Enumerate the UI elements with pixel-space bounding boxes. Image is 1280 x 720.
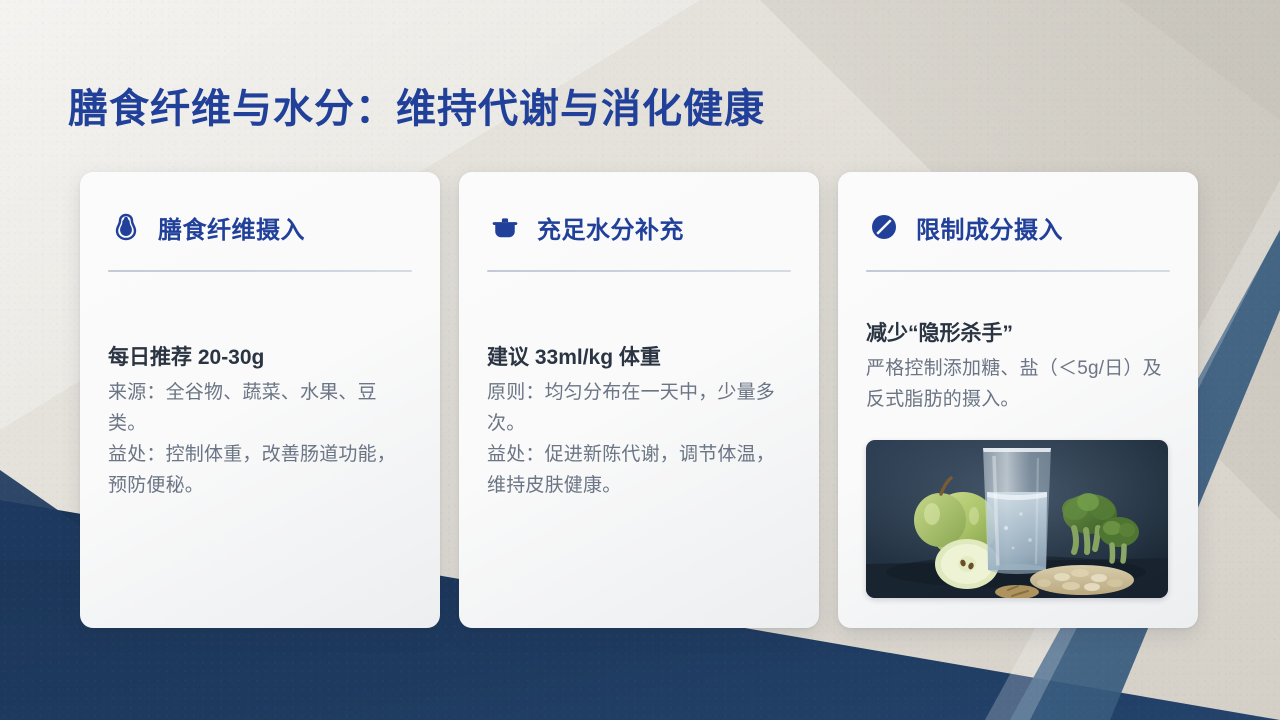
card-lead: 建议 33ml/kg 体重 [487,344,791,372]
card-title: 膳食纤维摄入 [158,210,305,245]
card-body: 建议 33ml/kg 体重 原则：均匀分布在一天中，少量多次。 益处：促进新陈代… [487,344,791,501]
water-pot-icon [487,209,523,245]
card-header: 充足水分补充 [487,206,791,248]
card-paragraph: 益处：促进新陈代谢，调节体温，维持皮肤健康。 [487,440,791,502]
cards-row: 膳食纤维摄入 每日推荐 20-30g 来源：全谷物、蔬菜、水果、豆类。 益处：控… [80,172,1200,628]
card-divider [866,270,1170,272]
card-header: 限制成分摄入 [866,206,1170,248]
card-divider [487,270,791,272]
card-dietary-fiber[interactable]: 膳食纤维摄入 每日推荐 20-30g 来源：全谷物、蔬菜、水果、豆类。 益处：控… [80,172,440,628]
healthy-food-photo [866,440,1168,598]
slide-title: 膳食纤维与水分：维持代谢与消化健康 [68,76,765,134]
card-title: 充足水分补充 [537,210,684,245]
card-lead: 每日推荐 20-30g [108,344,412,372]
card-hydration[interactable]: 充足水分补充 建议 33ml/kg 体重 原则：均匀分布在一天中，少量多次。 益… [459,172,819,628]
card-paragraph: 益处：控制体重，改善肠道功能，预防便秘。 [108,440,412,502]
prohibition-slash-icon [866,209,902,245]
card-title: 限制成分摄入 [916,210,1063,245]
card-lead: 减少“隐形杀手” [866,320,1170,348]
card-divider [108,270,412,272]
card-body: 每日推荐 20-30g 来源：全谷物、蔬菜、水果、豆类。 益处：控制体重，改善肠… [108,344,412,501]
water-glass [983,448,1051,574]
card-limit-intake[interactable]: 限制成分摄入 减少“隐形杀手” 严格控制添加糖、盐（＜5g/日）及反式脂肪的摄入… [838,172,1198,628]
card-paragraph: 来源：全谷物、蔬菜、水果、豆类。 [108,378,412,440]
card-header: 膳食纤维摄入 [108,206,412,248]
card-body: 减少“隐形杀手” 严格控制添加糖、盐（＜5g/日）及反式脂肪的摄入。 [866,320,1170,598]
card-paragraph: 原则：均匀分布在一天中，少量多次。 [487,378,791,440]
card-paragraph: 严格控制添加糖、盐（＜5g/日）及反式脂肪的摄入。 [866,354,1170,416]
wheat-grain-icon [108,209,144,245]
